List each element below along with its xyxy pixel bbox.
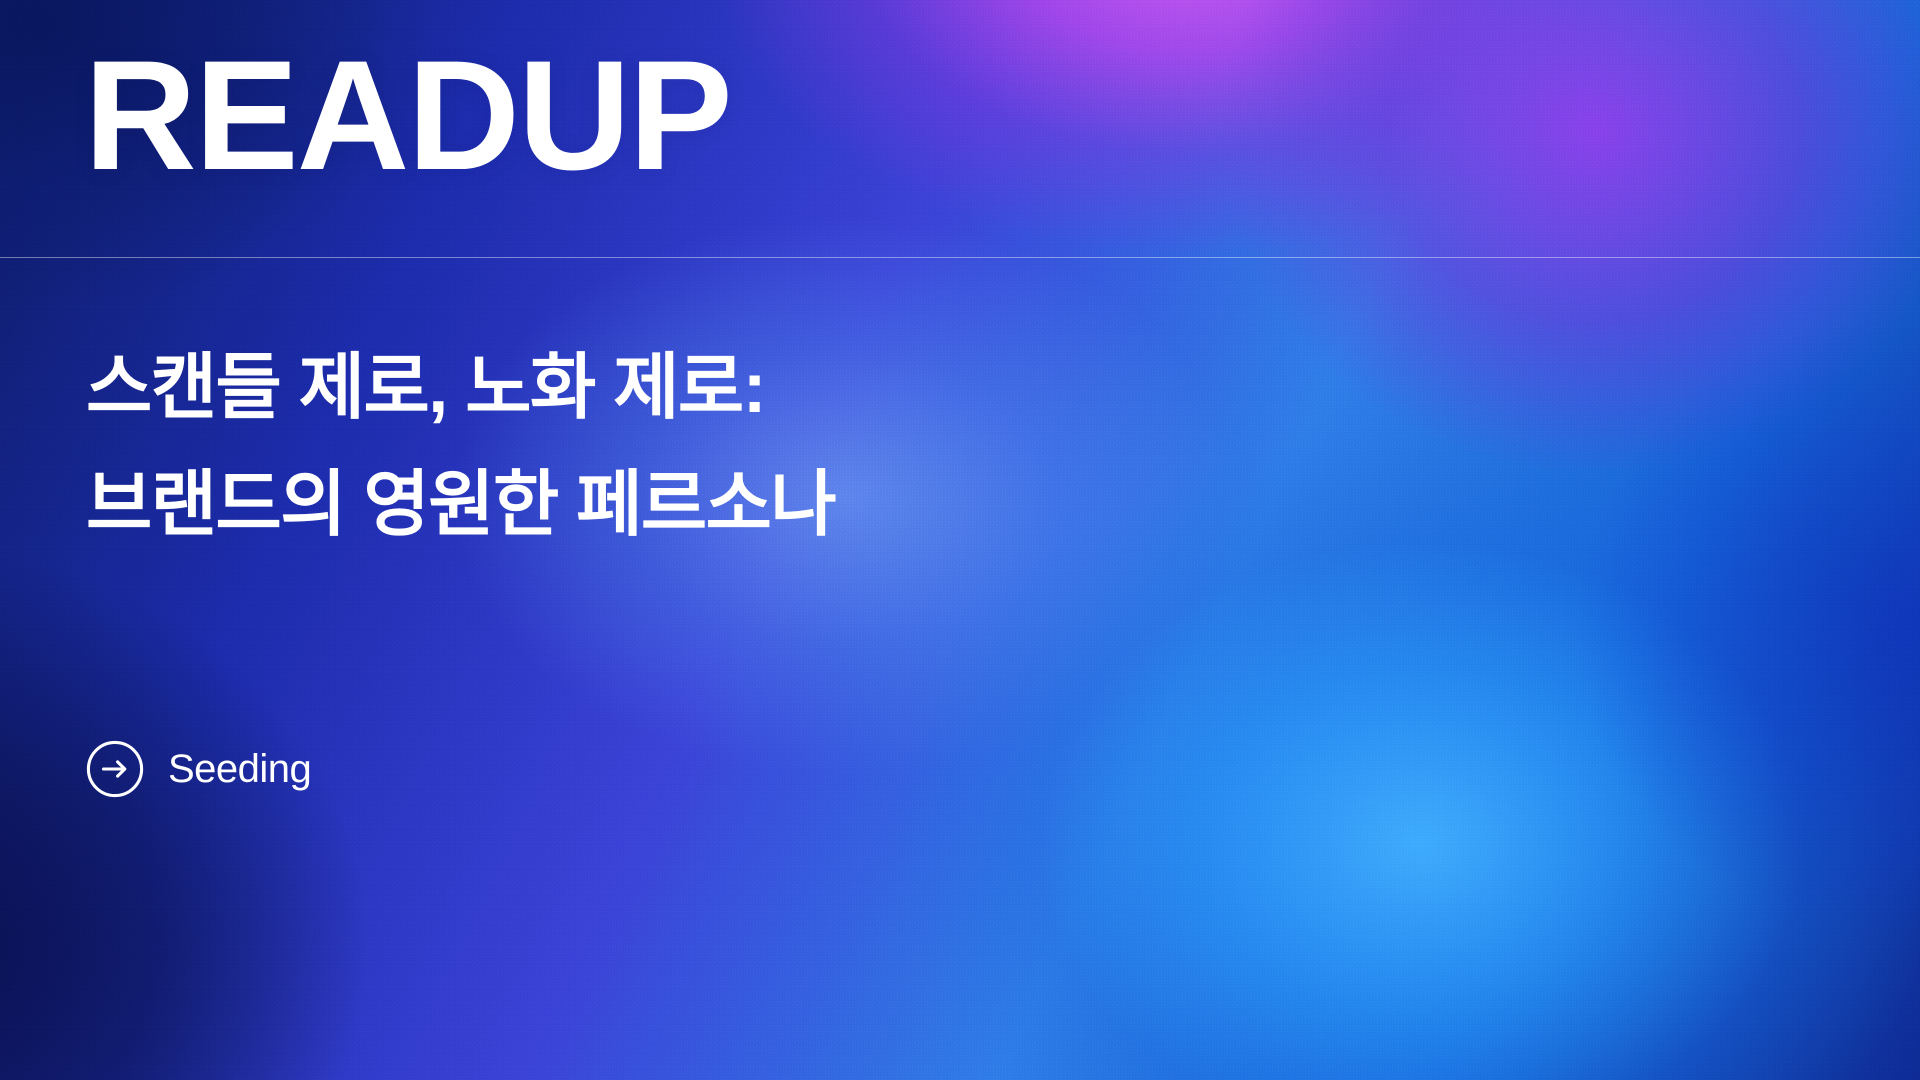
headline-line-2: 브랜드의 영원한 페르소나 xyxy=(86,447,1286,564)
brand-header: READUP xyxy=(0,0,1920,258)
page-title: 스캔들 제로, 노화 제로: 브랜드의 영원한 페르소나 xyxy=(86,330,1286,563)
headline-line-1: 스캔들 제로, 노화 제로: xyxy=(86,330,1286,447)
brand-logo-readup: READUP xyxy=(84,38,731,194)
arrow-right-circle-icon[interactable] xyxy=(86,740,144,798)
seeding-cta-label: Seeding xyxy=(168,749,311,789)
readup-promo-card: READUP 스캔들 제로, 노화 제로: 브랜드의 영원한 페르소나 Seed… xyxy=(0,0,1920,1080)
card-content: READUP 스캔들 제로, 노화 제로: 브랜드의 영원한 페르소나 Seed… xyxy=(0,0,1920,1080)
header-divider xyxy=(0,257,1920,258)
seeding-cta-button[interactable]: Seeding xyxy=(86,740,311,798)
